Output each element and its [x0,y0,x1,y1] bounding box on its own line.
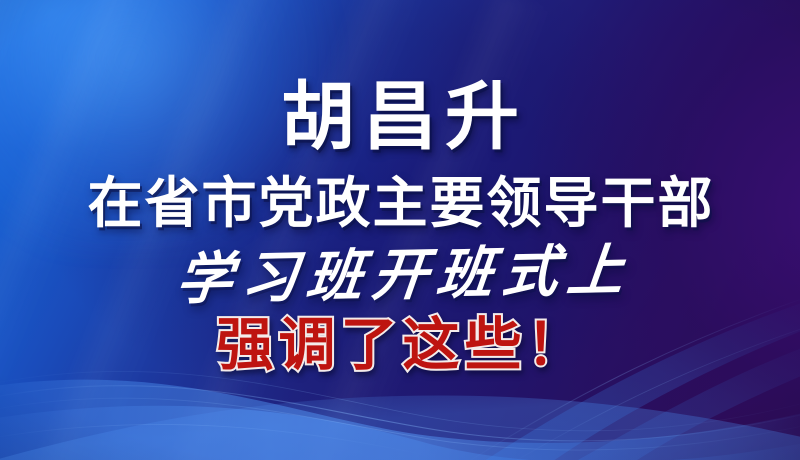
headline-name: 胡昌升 [273,80,527,154]
headline-emphasis-line: 强调了这些！ [212,317,589,374]
headline-text-block: 胡昌升 在省市党政主要领导干部 学习班开班式上 强调了这些！ [0,0,800,460]
poster-banner: 胡昌升 在省市党政主要领导干部 学习班开班式上 强调了这些！ [0,0,800,460]
headline-subtitle: 在省市党政主要领导干部 [85,176,714,231]
headline-calligraphy-line: 学习班开班式上 [165,242,636,308]
